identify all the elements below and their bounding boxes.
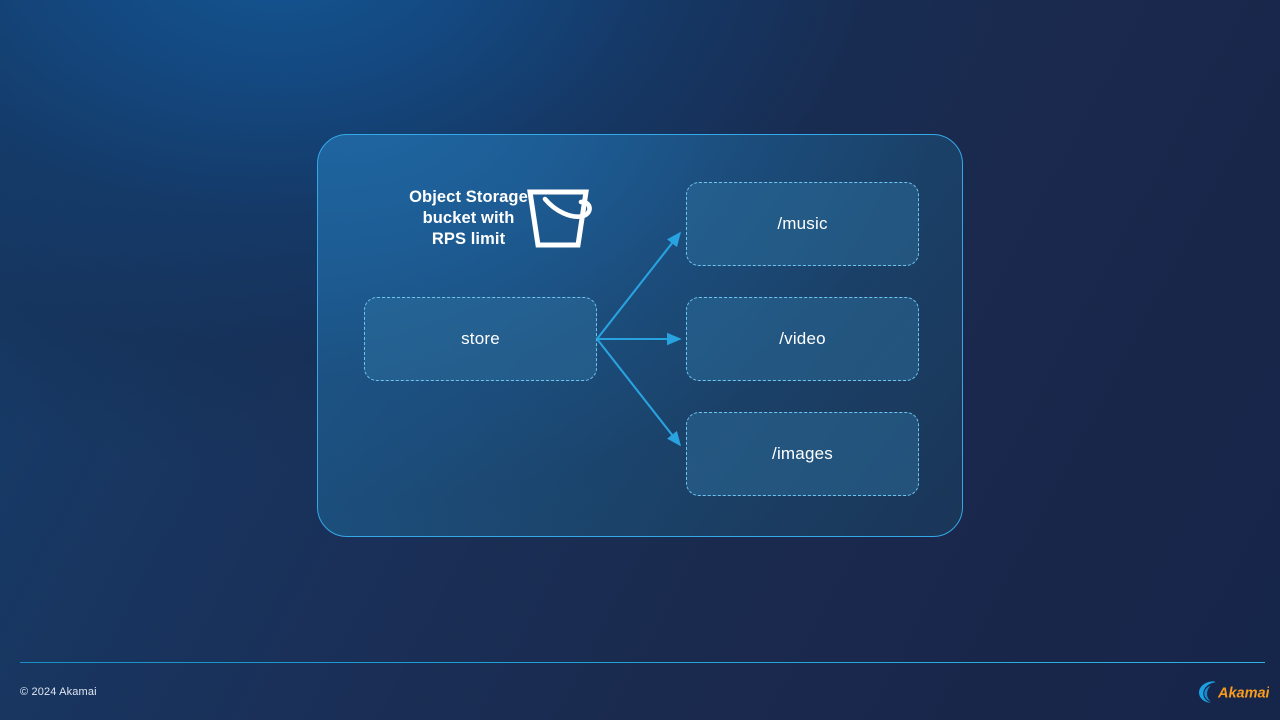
arrow-store-to-images — [597, 339, 680, 445]
akamai-logo: Akamai — [1197, 679, 1269, 705]
akamai-wordmark: Akamai — [1217, 686, 1269, 702]
node-images-label: /images — [772, 444, 833, 464]
bucket-icon — [521, 183, 595, 253]
slide-canvas: Object Storage bucket with RPS limit sto… — [0, 0, 1280, 720]
node-store[interactable]: store — [364, 297, 597, 381]
node-video-label: /video — [779, 329, 826, 349]
footer-copyright: © 2024 Akamai — [20, 686, 97, 698]
node-music-label: /music — [777, 214, 827, 234]
footer-divider — [20, 662, 1265, 663]
node-video[interactable]: /video — [686, 297, 919, 381]
akamai-swirl-icon — [1199, 681, 1216, 702]
node-store-label: store — [461, 329, 500, 349]
node-music[interactable]: /music — [686, 182, 919, 266]
diagram-card: Object Storage bucket with RPS limit sto… — [317, 134, 963, 537]
node-images[interactable]: /images — [686, 412, 919, 496]
arrow-store-to-music — [597, 233, 680, 339]
